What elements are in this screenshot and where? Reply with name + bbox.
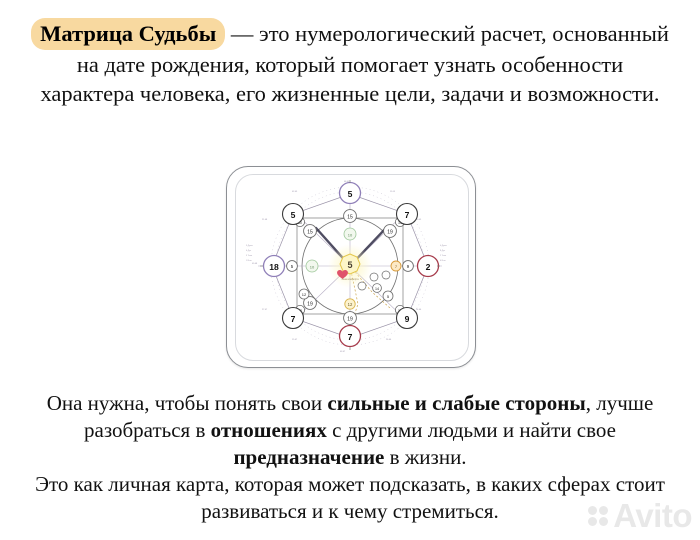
- axis-node-bottom-value: 7: [348, 332, 353, 342]
- matrix-card[interactable]: 08.0511.05 20.0501.06 14.0626.06 03.0715…: [226, 166, 476, 368]
- mid-node-bottom-right-small-value: 14: [375, 287, 379, 291]
- highlight-badge-matritsa-sudby: Матрица Судьбы: [31, 18, 225, 50]
- center-caption: Зона комфорта: [341, 278, 359, 281]
- svg-text:14.06: 14.06: [416, 309, 422, 311]
- mid-node-rel-a: [370, 273, 378, 281]
- corner-node-top-left-value: 5: [291, 210, 296, 220]
- top-paragraph: Матрица Судьбы — это нумерологический ра…: [28, 18, 672, 108]
- bottom-p1-g: в жизни.: [384, 445, 466, 469]
- mid-node-rel-c: [358, 282, 366, 290]
- avito-dots-icon: [588, 505, 610, 527]
- svg-text:27.07: 27.07: [262, 309, 268, 311]
- bottom-p1-strong-purpose: предназначение: [233, 445, 384, 469]
- avito-watermark: Avito: [588, 499, 692, 532]
- svg-text:6 Дух: 6 Дух: [246, 250, 251, 252]
- mid-node-top-inner-value: 15: [347, 214, 353, 220]
- svg-text:11.05: 11.05: [390, 191, 396, 193]
- poster-root: Матрица Судьбы — это нумерологический ра…: [0, 0, 700, 540]
- svg-text:2 Тело: 2 Тело: [440, 255, 447, 257]
- mid-node-rel-b: [382, 271, 390, 279]
- svg-text:20.05: 20.05: [416, 219, 422, 221]
- axis-node-left-value: 18: [269, 262, 279, 272]
- mid-node-bottom-yellow-value: 12: [348, 302, 353, 307]
- mid-node-bottom-left-inner-value: 19: [307, 301, 313, 307]
- axis-node-top-value: 5: [348, 189, 353, 199]
- svg-text:6 Итог: 6 Итог: [440, 260, 446, 262]
- svg-text:09.08: 09.08: [252, 263, 258, 265]
- avito-label: Avito: [613, 499, 692, 532]
- mid-node-top-left-inner-value: 15: [307, 229, 313, 235]
- svg-text:15.07: 15.07: [292, 339, 298, 341]
- bottom-p1-e: с другими людьми и найти свое: [327, 418, 616, 442]
- mid-node-top-right-inner-value: 19: [387, 229, 393, 235]
- svg-text:21.08: 21.08: [262, 219, 268, 221]
- svg-text:3 Душа: 3 Душа: [246, 245, 254, 247]
- corner-node-bottom-right-value: 9: [405, 314, 410, 324]
- svg-text:02.09: 02.09: [292, 191, 298, 193]
- inner-green-left-value: 10: [310, 265, 315, 270]
- bottom-p1-strong-relations: отношениях: [211, 418, 327, 442]
- center-node-value: 5: [347, 260, 352, 270]
- bottom-paragraph: Она нужна, чтобы понять свои сильные и с…: [24, 390, 676, 525]
- svg-text:03.07: 03.07: [340, 351, 346, 353]
- corner-node-bottom-left-value: 7: [291, 314, 296, 324]
- em-dash: —: [225, 21, 259, 46]
- destiny-matrix-diagram[interactable]: 08.0511.05 20.0501.06 14.0626.06 03.0715…: [240, 176, 460, 358]
- bottom-p2: Это как личная карта, которая может подс…: [24, 471, 676, 525]
- mid-node-bottom-left-mid-value: 12: [302, 292, 307, 297]
- svg-text:26.06: 26.06: [386, 339, 392, 341]
- svg-text:8 Дух: 8 Дух: [440, 250, 445, 252]
- svg-text:9 Тело: 9 Тело: [246, 255, 253, 257]
- corner-node-top-right-value: 7: [405, 210, 410, 220]
- svg-text:1 Итог: 1 Итог: [246, 260, 252, 262]
- bottom-p1-a: Она нужна, чтобы понять свои: [47, 391, 328, 415]
- axis-node-right-value: 2: [426, 262, 431, 272]
- bottom-p1-strong-strengths: сильные и слабые стороны: [327, 391, 585, 415]
- inner-green-top-value: 10: [348, 233, 353, 238]
- svg-text:4 Душа: 4 Душа: [440, 245, 448, 247]
- mid-node-bottom-inner-value: 19: [347, 316, 353, 322]
